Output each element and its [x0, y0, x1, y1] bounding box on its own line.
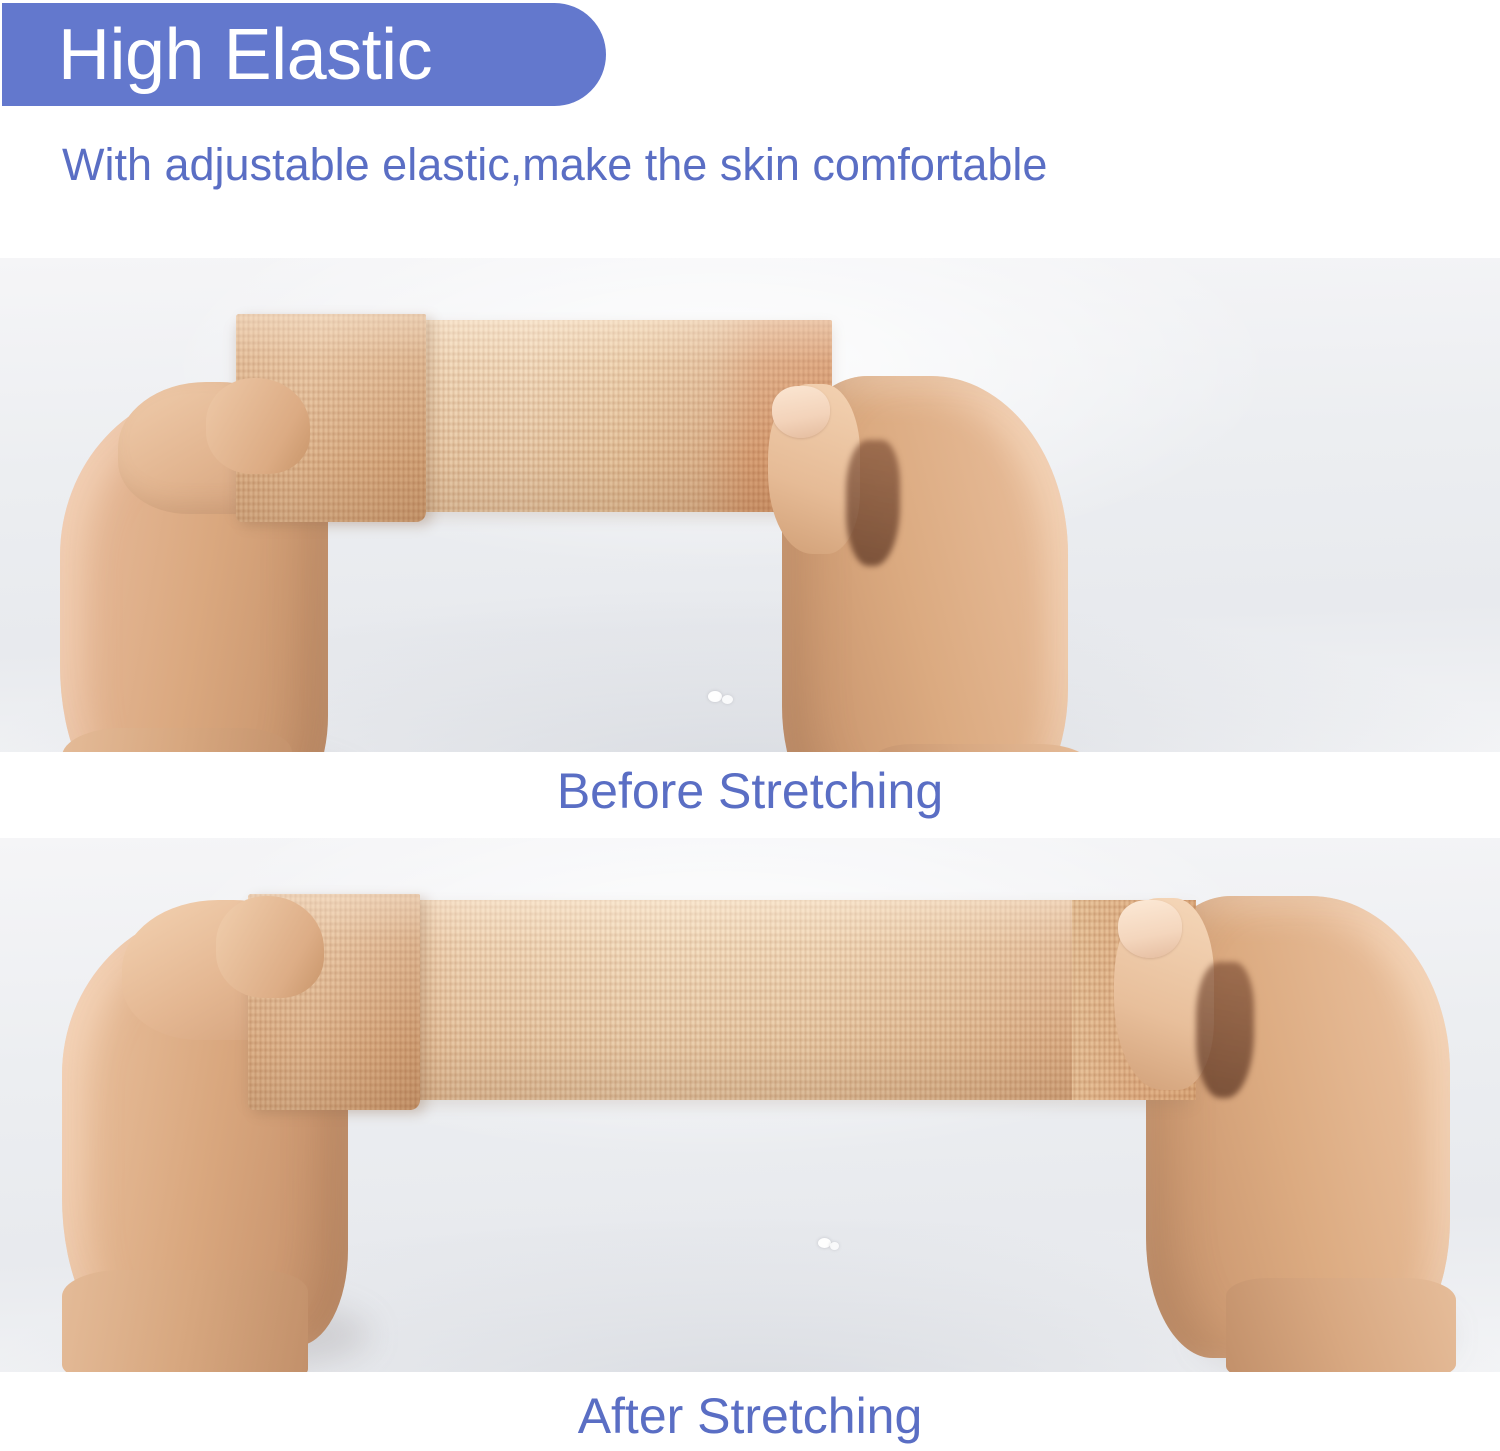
right-thumbnail: [772, 386, 830, 438]
left-thumb: [206, 378, 310, 474]
caption-before-stretching: Before Stretching: [0, 766, 1500, 816]
table-debris-speck: [830, 1242, 839, 1250]
left-thumb: [216, 896, 324, 998]
right-hand-finger-gap-shadow: [1196, 962, 1254, 1098]
right-thumbnail: [1118, 900, 1182, 958]
table-debris-speck: [722, 695, 733, 704]
high-elastic-badge: High Elastic: [2, 3, 606, 106]
left-wrist: [62, 728, 292, 752]
before-stretching-photo: [0, 258, 1500, 752]
table-debris-speck: [708, 691, 722, 702]
right-hand-finger-gap-shadow: [846, 440, 900, 566]
subtitle-text: With adjustable elastic,make the skin co…: [62, 140, 1047, 190]
caption-after-stretching: After Stretching: [0, 1391, 1500, 1441]
right-wrist: [1226, 1278, 1456, 1372]
left-wrist: [62, 1270, 308, 1372]
badge-label: High Elastic: [58, 19, 432, 91]
after-stretching-photo: [0, 838, 1500, 1372]
right-wrist: [872, 744, 1092, 752]
